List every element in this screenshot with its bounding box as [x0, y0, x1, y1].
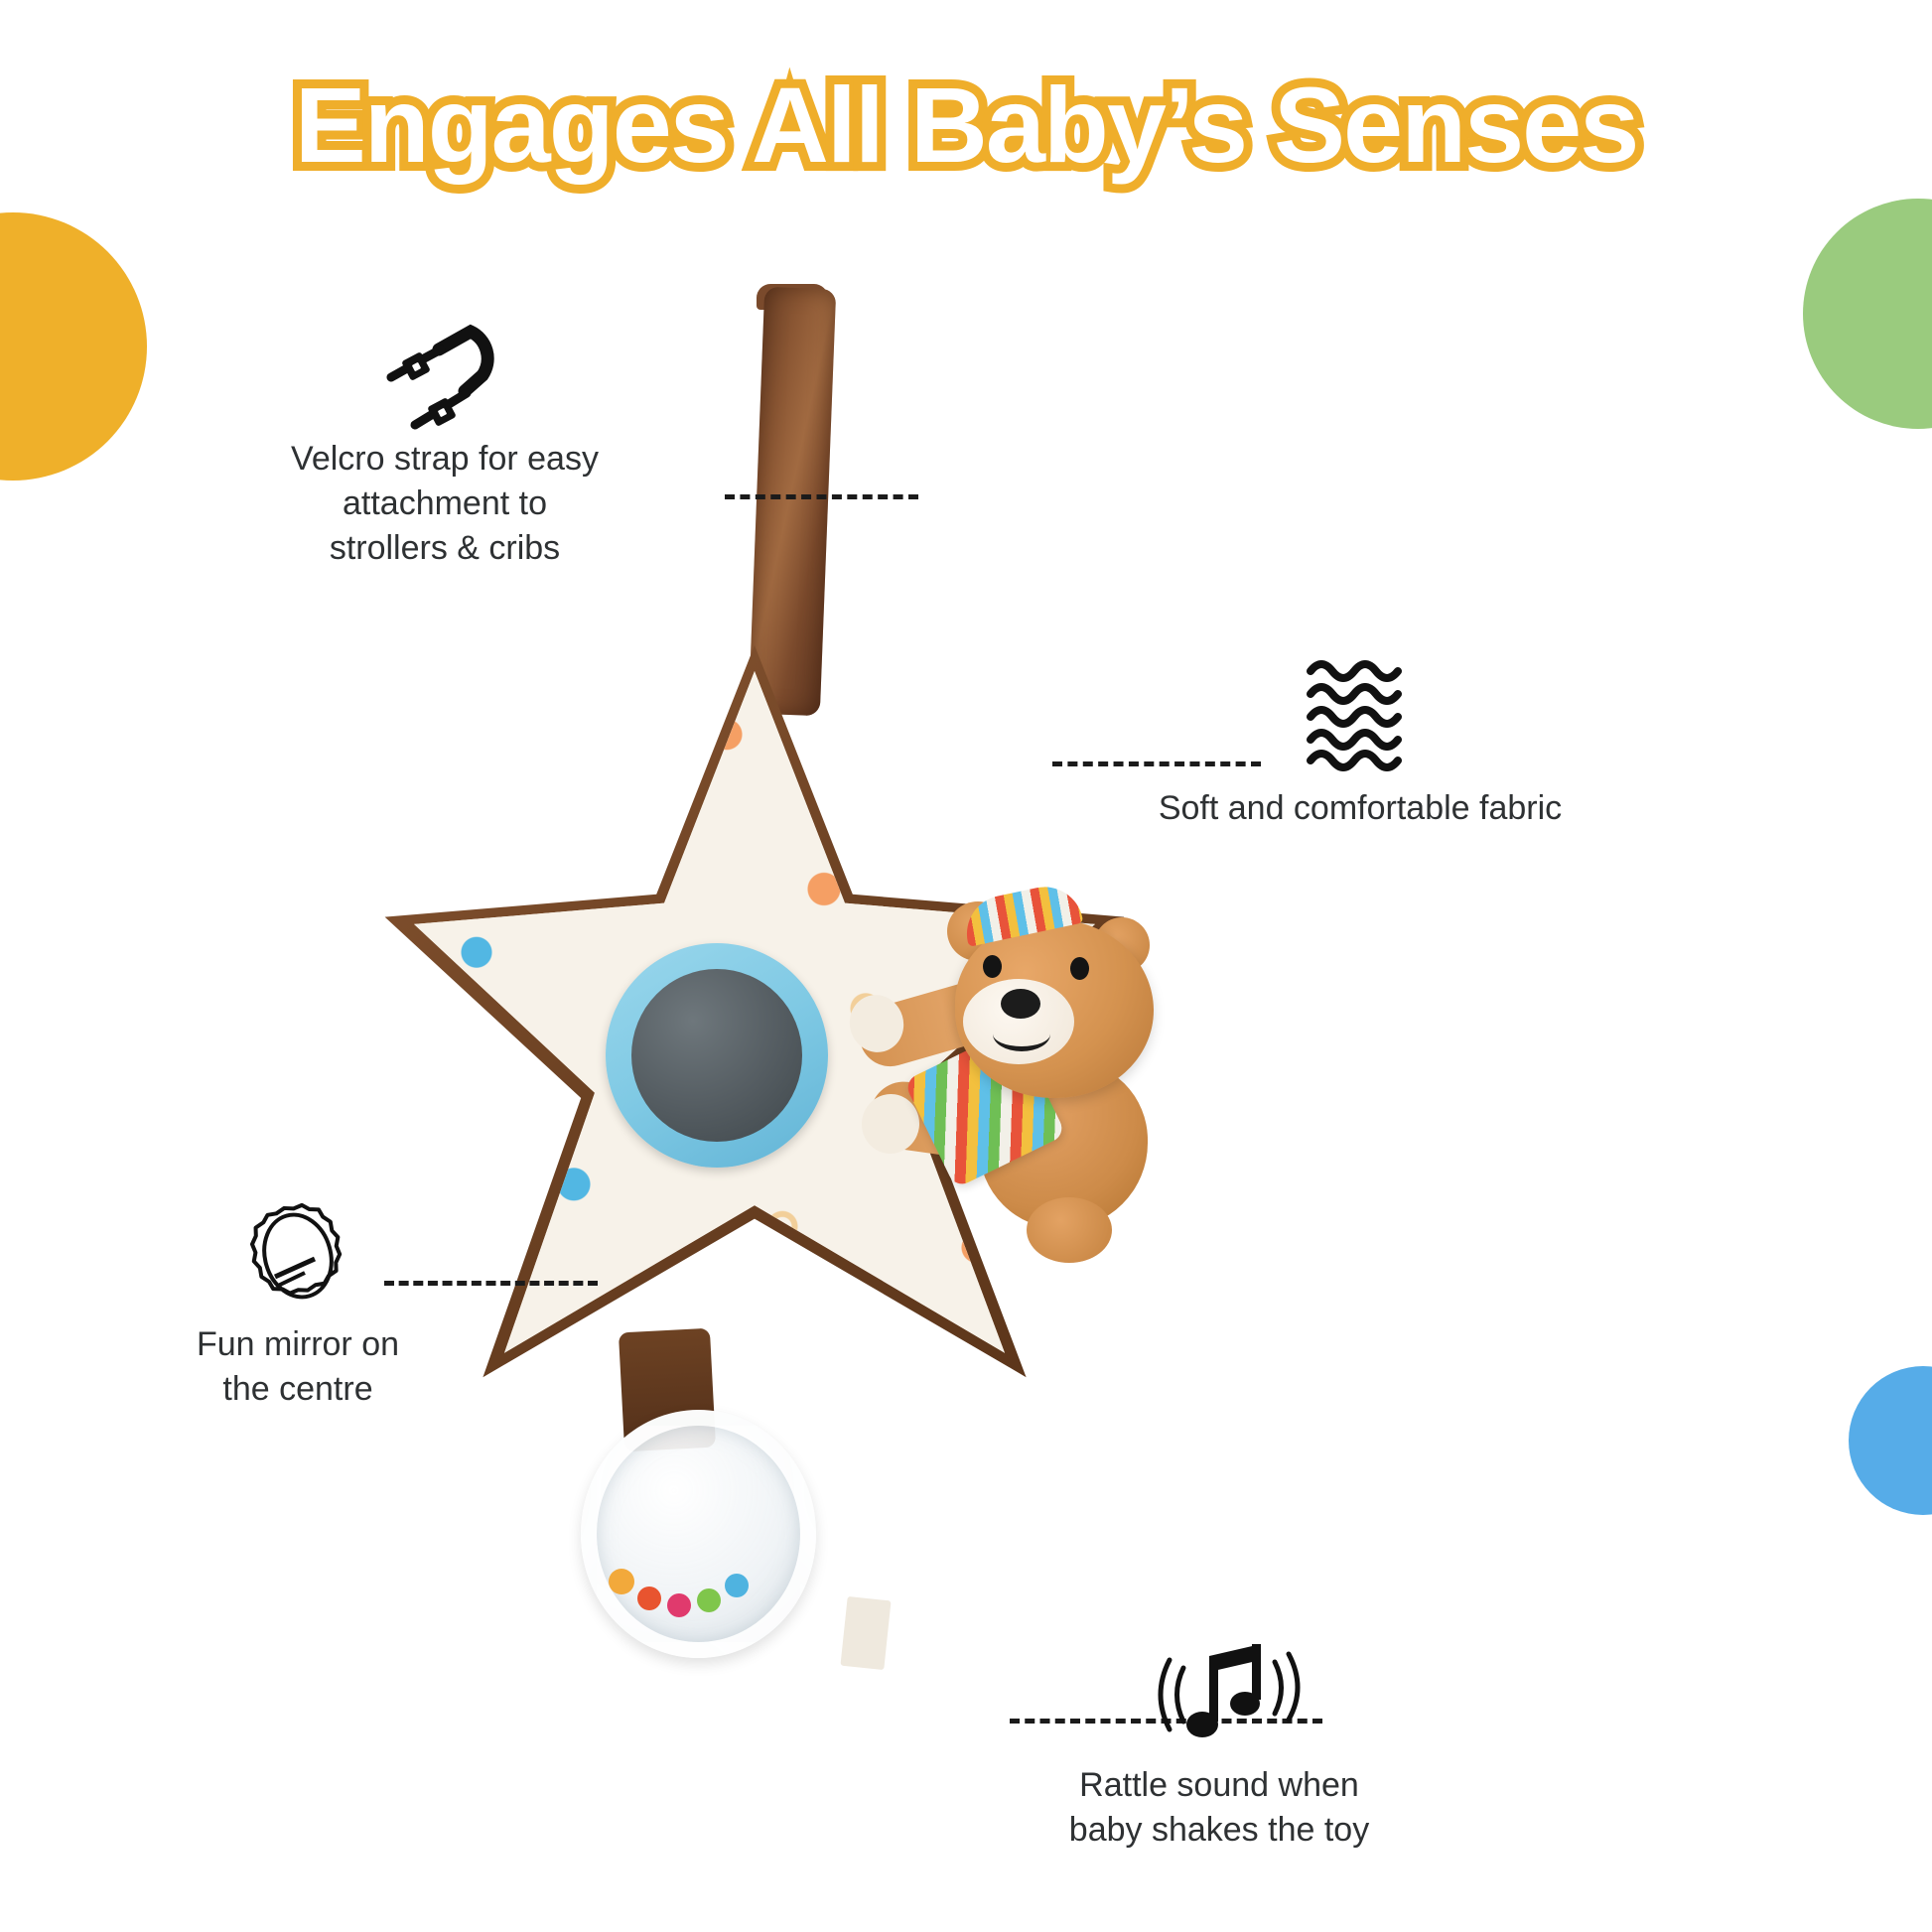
music-note-sound-icon	[1136, 1642, 1303, 1749]
infographic-canvas: Engages All Baby’s Senses	[0, 0, 1932, 1932]
wavy-fabric-icon	[1297, 655, 1424, 772]
oval-mirror-icon	[239, 1201, 356, 1311]
rattle-ring	[581, 1410, 816, 1658]
mirror-glass	[631, 969, 802, 1142]
green-circle-top-right	[1803, 199, 1932, 429]
brand-label-tag	[840, 1596, 891, 1670]
blue-circle-right	[1849, 1366, 1932, 1515]
rattle-bead	[609, 1569, 634, 1594]
velcro-strap-icon	[379, 320, 510, 437]
amber-circle-left	[0, 212, 147, 481]
feature-fabric-label: Soft and comfortable fabric	[1082, 772, 1638, 831]
feature-soft-fabric: Soft and comfortable fabric	[1082, 655, 1638, 831]
feature-velcro-label: Velcro strap for easy attachment to stro…	[177, 437, 713, 571]
feature-rattle-sound: Rattle sound when baby shakes the toy	[951, 1642, 1487, 1853]
feature-fun-mirror: Fun mirror on the centre	[109, 1201, 486, 1412]
bear-eye	[1070, 957, 1089, 980]
rattle-bead	[725, 1574, 749, 1597]
bear-nose	[1001, 989, 1040, 1019]
feature-rattle-label: Rattle sound when baby shakes the toy	[951, 1749, 1487, 1853]
page-title: Engages All Baby’s Senses	[0, 71, 1932, 179]
rattle-bead	[667, 1593, 691, 1617]
feature-velcro-strap: Velcro strap for easy attachment to stro…	[177, 320, 713, 571]
bear-eye	[983, 955, 1002, 978]
rattle-bead	[697, 1588, 721, 1612]
connector-line-velcro	[725, 494, 918, 499]
feature-mirror-label: Fun mirror on the centre	[109, 1311, 486, 1412]
bear-foot	[1027, 1197, 1112, 1263]
bear-mouth	[993, 1017, 1050, 1051]
mirror-ring	[606, 943, 828, 1168]
rattle-bead	[637, 1587, 661, 1610]
teddy-bear-plush	[860, 884, 1187, 1281]
